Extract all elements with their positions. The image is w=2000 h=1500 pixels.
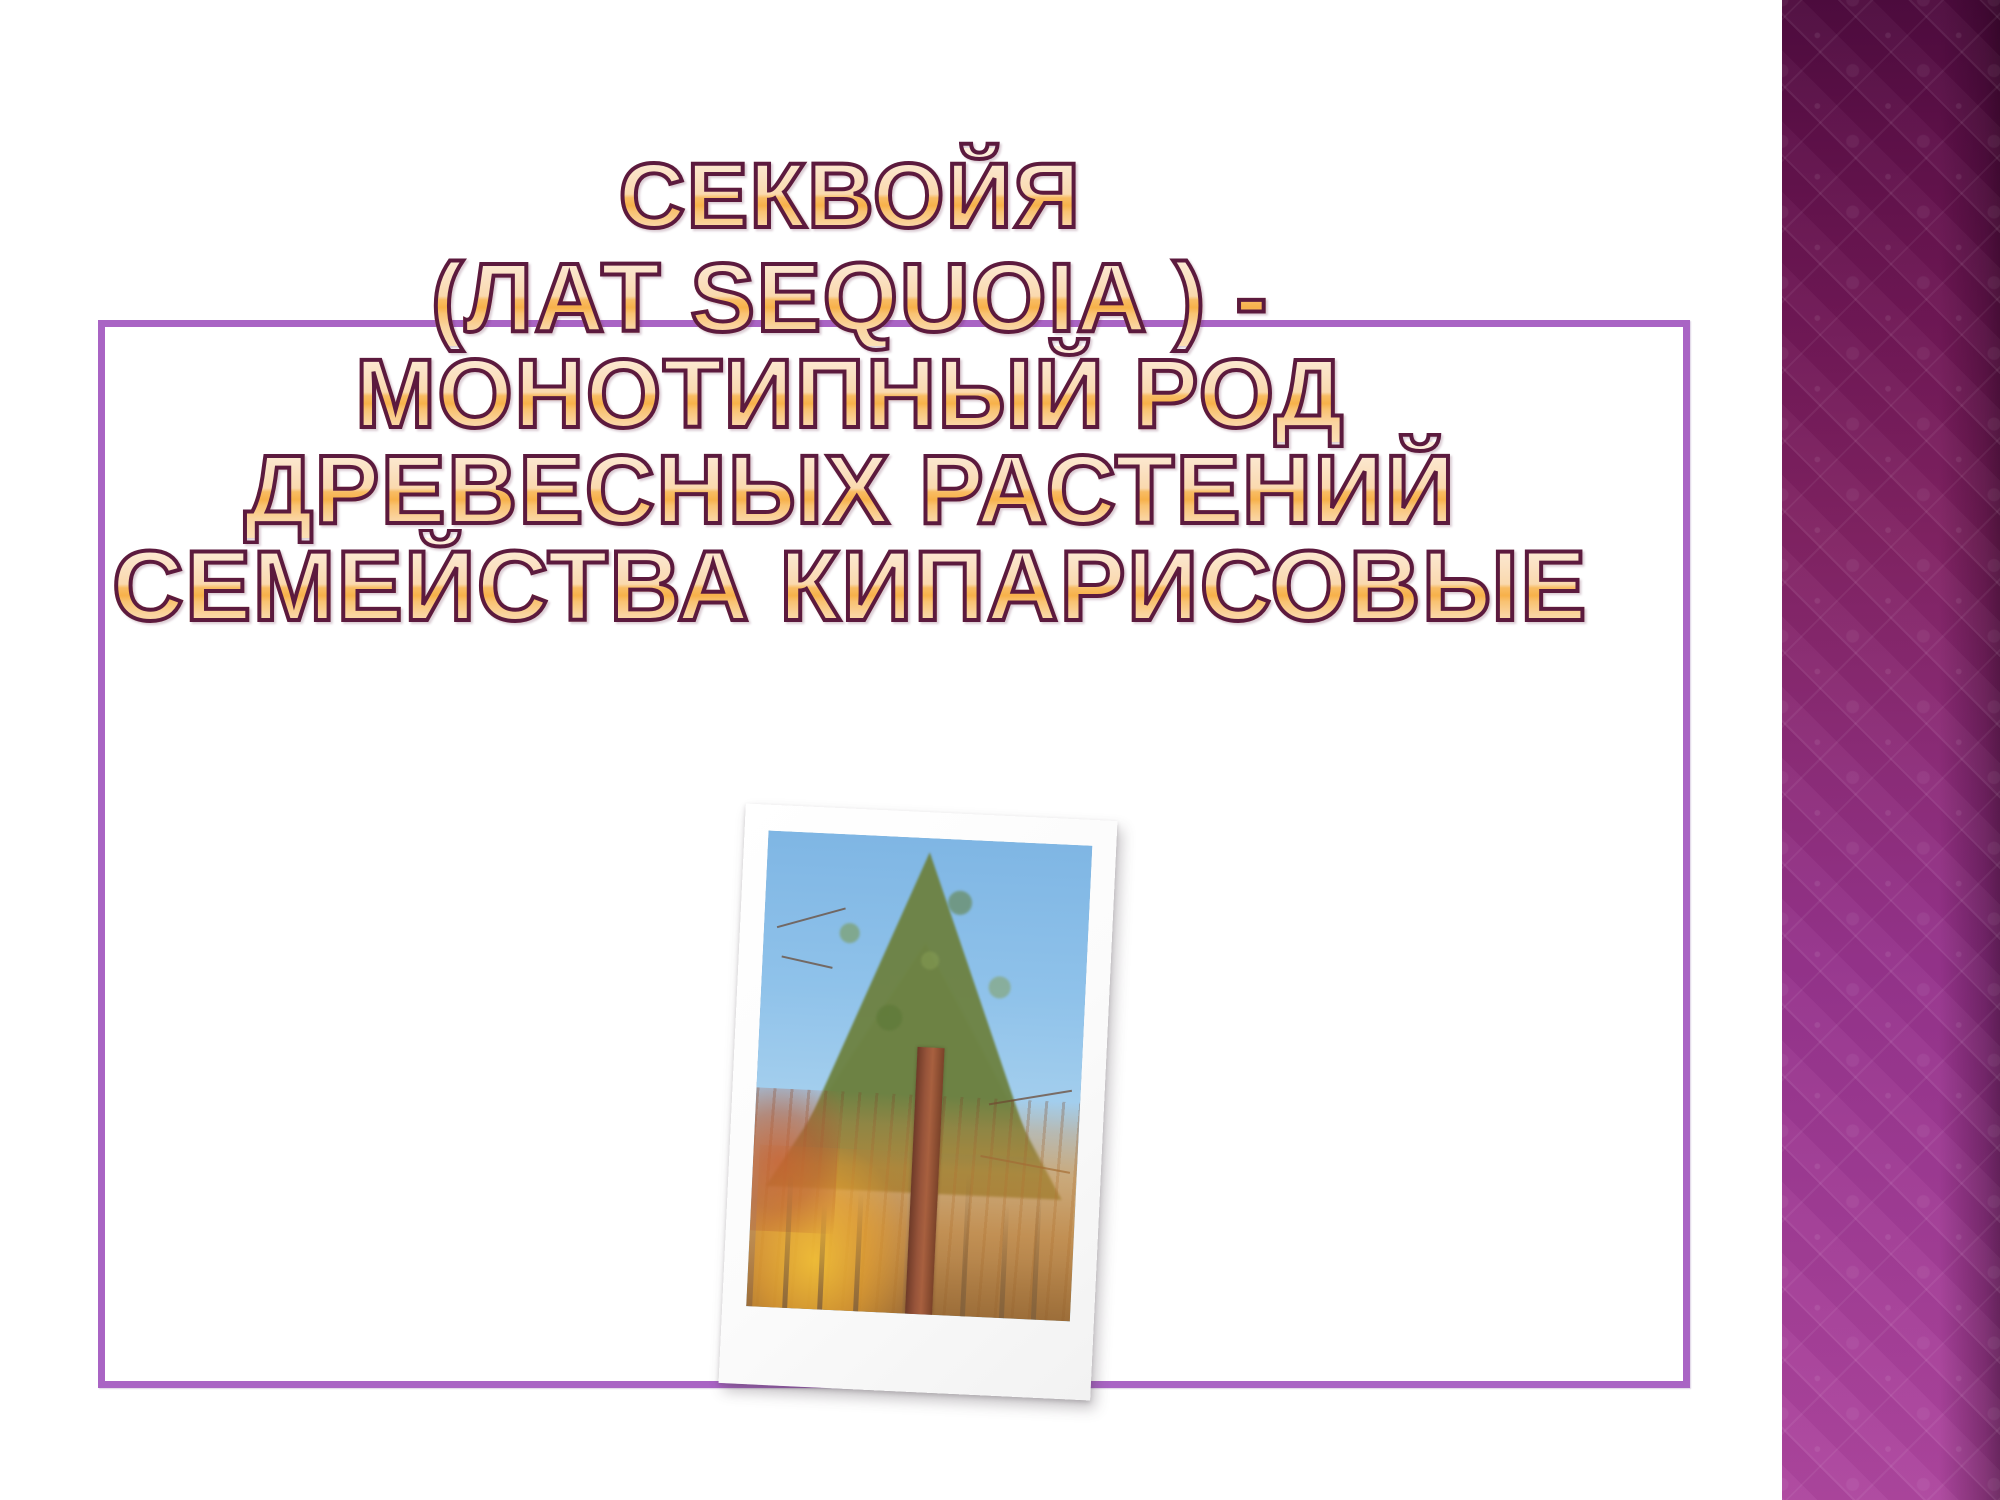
slide-title: Секвойя (лат Sequoia ) - монотипный род … xyxy=(0,148,1700,634)
presentation-slide: Секвойя (лат Sequoia ) - монотипный род … xyxy=(0,0,2000,1500)
photo-frame[interactable] xyxy=(719,804,1118,1401)
title-line-4: древесных растений xyxy=(0,442,1700,538)
sequoia-tree-photo xyxy=(746,831,1092,1322)
title-line-1: Секвойя xyxy=(0,148,1700,244)
photo-red-foliage xyxy=(750,1087,841,1234)
title-line-3: монотипный род xyxy=(0,346,1700,442)
title-line-5: семейства Кипарисовые xyxy=(0,538,1700,634)
title-line-2: (лат Sequoia ) - xyxy=(0,250,1700,346)
panel-diamond-pattern xyxy=(1782,0,2000,1500)
side-decoration-panel xyxy=(1782,0,2000,1500)
panel-cross-motif-pattern xyxy=(1782,0,2000,1500)
